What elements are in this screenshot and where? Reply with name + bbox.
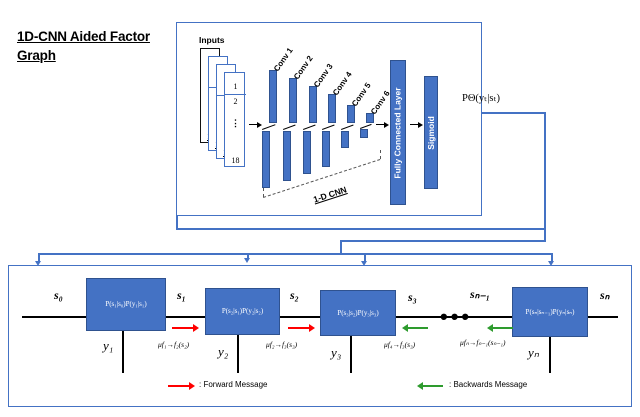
factor-node-1: P(s₁|s₀)P(y₁|s₁) (86, 278, 166, 331)
route-bus-lower (38, 253, 552, 255)
chain-ellipsis: ••• (440, 312, 472, 322)
conv-4-bottom-bar (322, 131, 330, 167)
input-to-conv-arrow-icon (257, 122, 262, 128)
state-label-sn-1: sₙ₋₁ (470, 287, 490, 302)
factor-node-n: P(sₙ|sₙ₋₁)P(yₙ|sₙ) (512, 287, 588, 337)
route-bus-upper (176, 228, 546, 230)
state-label-s3: s₃ (408, 290, 417, 305)
conv-5-top-bar (347, 105, 355, 123)
legend-backward-head-icon (417, 382, 423, 390)
state-label-sn: sₙ (600, 288, 609, 303)
inputs-label: Inputs (199, 35, 225, 45)
backward-arrow-1-head-icon (402, 324, 408, 332)
route-drop-2-arrow-icon (244, 258, 250, 263)
legend-forward-head-icon (189, 382, 195, 390)
cnn-output-formula: PΘ(yₜ|sₜ) (462, 92, 500, 104)
forward-message-label-1: μf₁→f₂(s₂) (158, 340, 189, 349)
input-row-1: 1 (225, 82, 246, 91)
backward-message-label-2: μfₙ→fₙ₋₁(sₙ₋₁) (460, 338, 505, 347)
conv-1-top-bar (269, 70, 277, 123)
observation-label-yn: yₙ (528, 345, 539, 361)
cnn-baseline-tick-left (263, 188, 264, 197)
backward-arrow-2-head-icon (487, 324, 493, 332)
forward-message-label-2: μf₂→f₃(s₃) (266, 340, 297, 349)
fully-connected-layer-block: Fully Connected Layer (390, 60, 406, 205)
sigmoid-label: Sigmoid (426, 116, 436, 150)
legend-backward-label: : Backwards Message (449, 380, 527, 389)
fc-to-sigmoid-arrow-icon (418, 122, 423, 128)
forward-arrow-1-head-icon (193, 324, 199, 332)
observation-stem-2 (237, 335, 239, 373)
factor-node-2: P(s₂|s₁)P(y₂|s₂) (205, 288, 280, 335)
route-bus-mid-left-riser (340, 240, 342, 253)
conv-3-bottom-bar (303, 131, 311, 174)
cnn-baseline-tick-right (380, 150, 381, 159)
conv-6-bottom-bar (360, 129, 368, 138)
input-card-4-rule (225, 94, 246, 95)
route-bus-mid (340, 240, 546, 242)
observation-stem-3 (350, 336, 352, 373)
forward-arrow-2-line (288, 327, 310, 329)
conv-to-fc-arrow-icon (384, 122, 389, 128)
observation-stem-1 (122, 331, 124, 373)
legend-forward-line (168, 385, 190, 387)
conv-6-top-bar (366, 113, 374, 123)
route-from-cnn-top (482, 112, 546, 114)
route-bus-upper-left-riser (176, 216, 178, 229)
legend-forward-label: : Forward Message (199, 380, 267, 389)
conv-2-bottom-bar (283, 131, 291, 181)
conv-2-top-bar (289, 78, 297, 123)
conv-1-bottom-bar (262, 131, 270, 188)
conv-4-top-bar (328, 94, 336, 123)
backward-message-label-1: μf₄→f₃(s₃) (384, 340, 415, 349)
fully-connected-layer-label: Fully Connected Layer (393, 87, 403, 178)
state-label-s1: s₁ (177, 288, 186, 303)
conv-5-bottom-bar (341, 131, 349, 148)
observation-label-y3: y₃ (331, 345, 341, 361)
backward-arrow-2-line (491, 327, 513, 329)
forward-arrow-1-line (172, 327, 194, 329)
state-label-s2: s₂ (290, 288, 299, 303)
factor-node-3: P(s₃|s₂)P(y₃|s₃) (320, 290, 396, 336)
input-card-4-dots: ⋮ (225, 121, 246, 126)
legend-backward-line (421, 385, 443, 387)
conv-3-top-bar (309, 86, 317, 123)
diagram-canvas: 1D-CNN Aided Factor Graph Inputs ⋮ 10 ⋮ … (0, 0, 640, 417)
route-from-cnn-down (544, 112, 546, 217)
observation-label-y1: y₁ (103, 338, 113, 354)
input-card-4: 1 2 ⋮ 18 (224, 72, 245, 167)
forward-arrow-2-head-icon (309, 324, 315, 332)
page-title: 1D-CNN Aided Factor Graph (17, 27, 169, 65)
route-bus-upper-right-riser (544, 216, 546, 229)
backward-arrow-1-line (406, 327, 428, 329)
sigmoid-block: Sigmoid (424, 76, 438, 189)
input-row-18: 18 (225, 156, 246, 165)
route-bus-mid-riser (544, 229, 546, 241)
state-label-s0: s₀ (54, 288, 63, 303)
input-row-2: 2 (225, 97, 246, 106)
observation-label-y2: y₂ (218, 344, 228, 360)
observation-stem-n (549, 337, 551, 373)
